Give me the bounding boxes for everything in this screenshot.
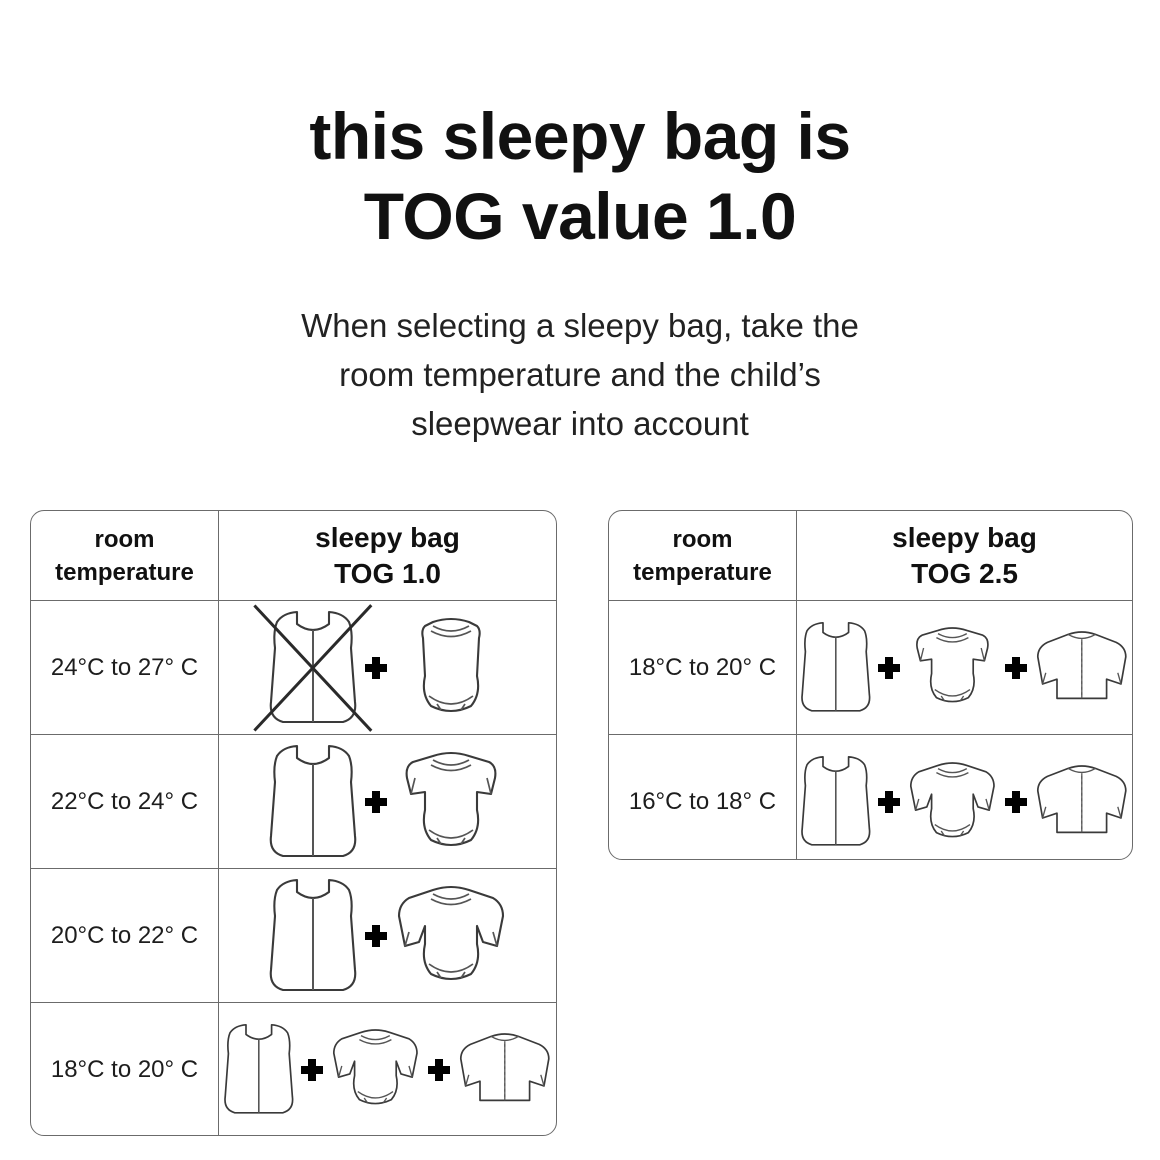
header-cell-room-temperature: roomtemperature <box>609 511 797 600</box>
header-room-line-1: room <box>95 526 155 553</box>
header-room-line-2: temperature <box>55 559 194 586</box>
page-subtitle-line-1: When selecting a sleepy bag, take the <box>0 301 1160 350</box>
header-room-line-2: temperature <box>633 559 772 586</box>
cardigan-icon <box>456 1030 554 1110</box>
page-subtitle: When selecting a sleepy bag, take the ro… <box>0 301 1160 448</box>
header-room-line-1: room <box>673 526 733 553</box>
table-header-row: roomtemperaturesleepy bagTOG 1.0 <box>31 511 556 601</box>
table-row: 18°C to 20° C <box>31 1003 556 1136</box>
header-bag-line-1: sleepy bag <box>892 522 1037 553</box>
table-row: 20°C to 22° C <box>31 869 556 1003</box>
page-subtitle-line-3: sleepwear into account <box>0 399 1160 448</box>
header-bag-line-1: sleepy bag <box>315 522 460 553</box>
tog-2-5-table: roomtemperaturesleepy bagTOG 2.518°C to … <box>608 510 1133 860</box>
sleeveless-bodysuit-icon <box>393 614 509 722</box>
table-row: 16°C to 18° C <box>609 735 1132 860</box>
long-sleeve-bodysuit-icon <box>329 1026 422 1112</box>
cardigan-icon <box>1033 762 1131 842</box>
header-cell-room-temperature: roomtemperature <box>31 511 219 600</box>
row-garments-cell <box>219 601 556 734</box>
garment-list <box>797 735 1132 860</box>
temperature-label: 18°C to 20° C <box>51 1056 198 1084</box>
sleepy-bag-icon <box>267 874 359 998</box>
row-temperature-cell: 18°C to 20° C <box>609 601 797 734</box>
header-bag-line-2: TOG 1.0 <box>315 556 460 592</box>
temperature-label: 16°C to 18° C <box>629 788 776 816</box>
cardigan-icon <box>1033 628 1131 708</box>
row-temperature-cell: 16°C to 18° C <box>609 735 797 860</box>
header-cell-sleepy-bag: sleepy bagTOG 2.5 <box>797 511 1132 600</box>
table-row: 24°C to 27° C <box>31 601 556 735</box>
row-garments-cell <box>219 869 556 1002</box>
long-sleeve-bodysuit-icon <box>906 759 999 845</box>
sleepy-bag-icon <box>222 1020 296 1119</box>
plus-separator-icon <box>359 919 393 953</box>
row-temperature-cell: 18°C to 20° C <box>31 1003 219 1136</box>
sleepy-bag-icon <box>267 740 359 864</box>
short-sleeve-bodysuit-icon <box>393 748 509 856</box>
page-title: this sleepy bag is TOG value 1.0 <box>0 96 1160 256</box>
row-temperature-cell: 22°C to 24° C <box>31 735 219 868</box>
row-garments-cell <box>797 735 1132 860</box>
row-garments-cell <box>219 735 556 868</box>
plus-separator-icon <box>359 785 393 819</box>
temperature-label: 24°C to 27° C <box>51 654 198 682</box>
garment-list <box>219 735 556 868</box>
sleepy-bag-icon <box>799 752 873 851</box>
tog-1-0-table: roomtemperaturesleepy bagTOG 1.024°C to … <box>30 510 557 1136</box>
table-header-row: roomtemperaturesleepy bagTOG 2.5 <box>609 511 1132 601</box>
table-row: 22°C to 24° C <box>31 735 556 869</box>
garment-list <box>219 869 556 1002</box>
plus-separator-icon <box>872 785 906 819</box>
page-subtitle-line-2: room temperature and the child’s <box>0 350 1160 399</box>
plus-separator-icon <box>422 1053 456 1087</box>
row-temperature-cell: 20°C to 22° C <box>31 869 219 1002</box>
garment-list <box>797 601 1132 734</box>
row-garments-cell <box>797 601 1132 734</box>
garment-list <box>219 601 556 734</box>
row-garments-cell <box>219 1003 556 1136</box>
short-sleeve-bodysuit-icon <box>906 624 999 710</box>
row-temperature-cell: 24°C to 27° C <box>31 601 219 734</box>
temperature-label: 20°C to 22° C <box>51 922 198 950</box>
plus-separator-icon <box>999 651 1033 685</box>
plus-separator-icon <box>999 785 1033 819</box>
temperature-label: 22°C to 24° C <box>51 788 198 816</box>
long-sleeve-bodysuit-icon <box>393 882 509 990</box>
plus-separator-icon <box>359 651 393 685</box>
header-bag-line-2: TOG 2.5 <box>892 556 1037 592</box>
temperature-label: 18°C to 20° C <box>629 654 776 682</box>
header-cell-sleepy-bag: sleepy bagTOG 1.0 <box>219 511 556 600</box>
sleepy-bag-icon <box>267 606 359 730</box>
garment-list <box>219 1003 556 1136</box>
plus-separator-icon <box>295 1053 329 1087</box>
page-title-line-2: TOG value 1.0 <box>0 176 1160 256</box>
plus-separator-icon <box>872 651 906 685</box>
table-row: 18°C to 20° C <box>609 601 1132 735</box>
page-title-line-1: this sleepy bag is <box>0 96 1160 176</box>
sleepy-bag-icon <box>799 618 873 717</box>
